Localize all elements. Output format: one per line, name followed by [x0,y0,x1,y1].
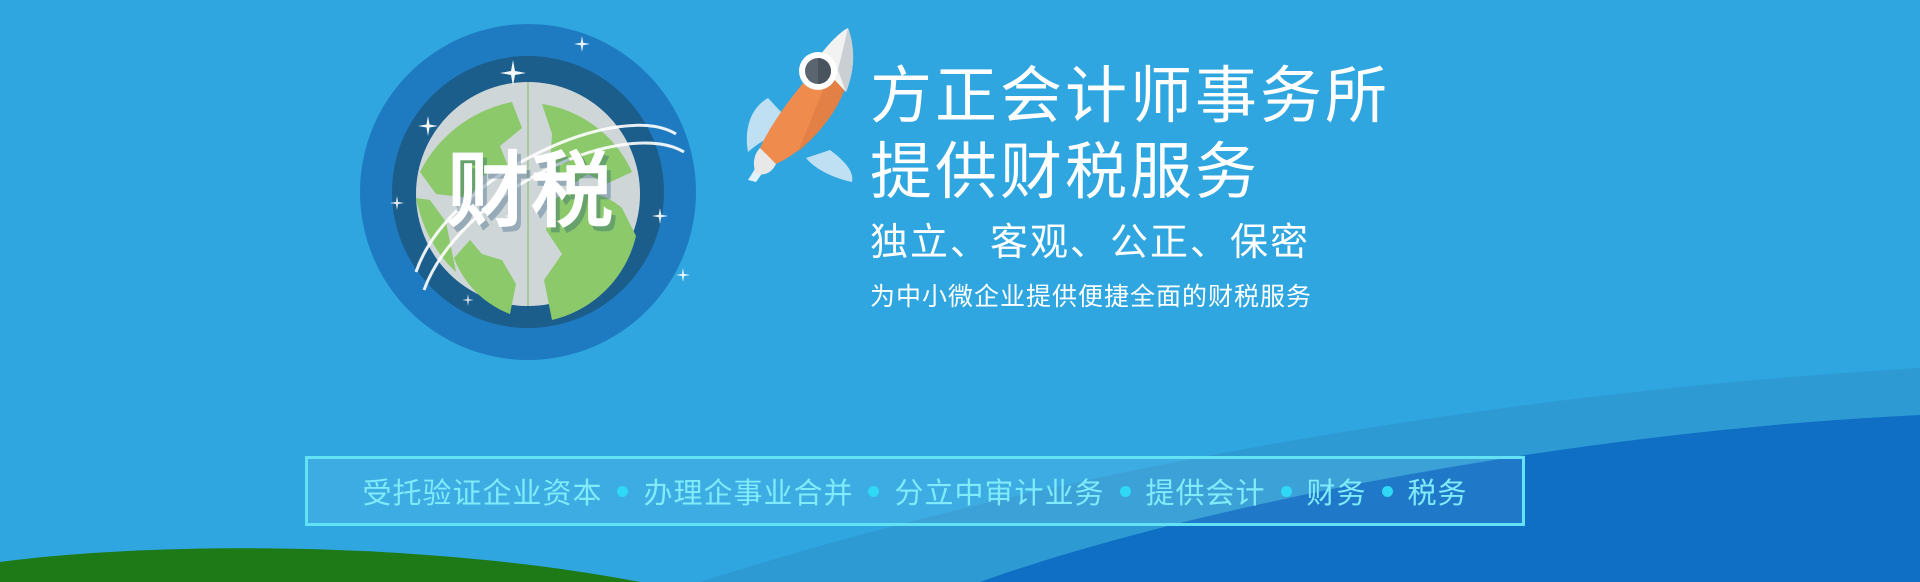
bullet-dot-icon [1120,486,1131,497]
headline-service-claim: 提供财税服务 [870,134,1570,210]
bullet-dot-icon [868,486,879,497]
emblem-word: 财税 [358,22,698,362]
headline-subtext: 为中小微企业提供便捷全面的财税服务 [870,274,1570,320]
service-item: 财务 [1303,470,1371,512]
service-item: 受托验证企业资本 [358,470,606,512]
services-banner: 受托验证企业资本 办理企事业合并 分立中审计业务 提供会计 财务 税务 [305,456,1525,526]
rocket-icon [742,22,872,182]
services-list: 受托验证企业资本 办理企事业合并 分立中审计业务 提供会计 财务 税务 [358,470,1471,512]
service-item: 办理企事业合并 [639,470,857,512]
bullet-dot-icon [1382,486,1393,497]
service-item: 提供会计 [1142,470,1270,512]
globe-emblem: 财税 [358,22,698,362]
headline-company-name: 方正会计师事务所 [870,58,1570,134]
bullet-dot-icon [1281,486,1292,497]
service-item: 税务 [1404,470,1472,512]
bullet-dot-icon [617,486,628,497]
headline-block: 方正会计师事务所 提供财税服务 独立、客观、公正、保密 为中小微企业提供便捷全面… [870,58,1570,320]
headline-values: 独立、客观、公正、保密 [870,210,1570,274]
service-item: 分立中审计业务 [890,470,1108,512]
promo-banner: 财税 [0,0,1920,582]
